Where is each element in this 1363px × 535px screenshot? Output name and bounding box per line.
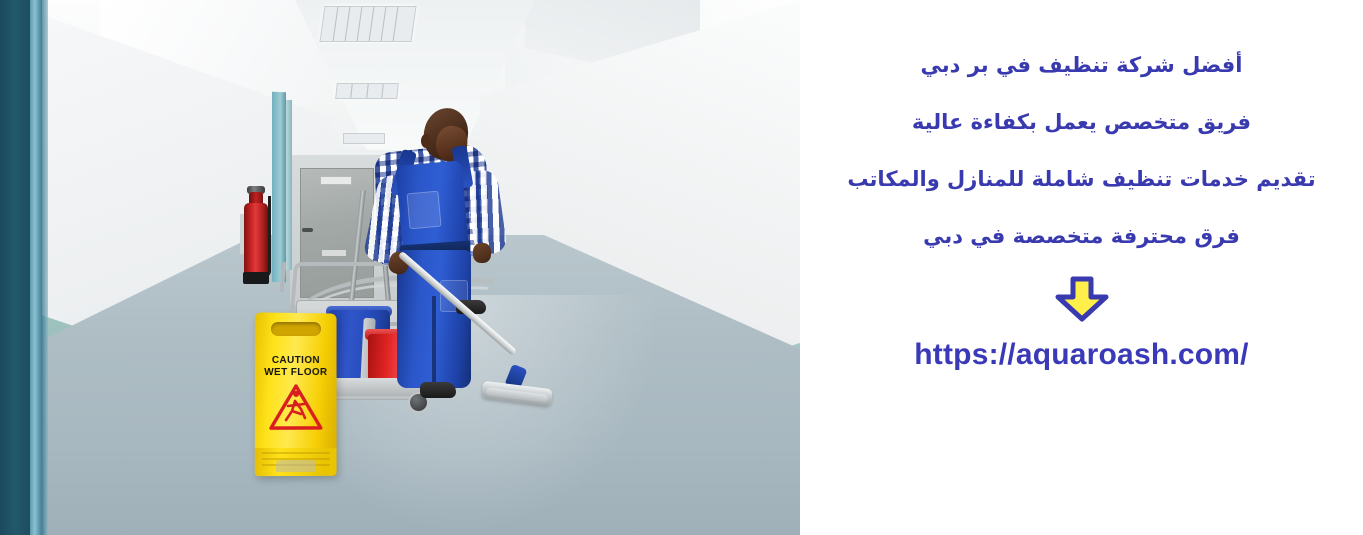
fire-extinguisher-hose — [262, 196, 271, 277]
caution-sign-notch — [276, 460, 316, 472]
door-panel-edge — [30, 0, 42, 535]
worker-ear — [421, 134, 431, 148]
headline-line-4: فرق محترفة متخصصة في دبي — [812, 223, 1352, 249]
sign-line-1: CAUTION — [255, 355, 337, 367]
slip-hazard-triangle-icon — [268, 383, 324, 431]
arrow-down-icon — [1054, 276, 1110, 322]
promo-text-panel: أفضل شركة تنظيف في بر دبي فريق متخصص يعم… — [800, 0, 1363, 535]
headline-line-3: تقديم خدمات تنظيف شاملة للمنازل والمكاتب — [812, 166, 1352, 192]
door-panel-highlight — [42, 0, 48, 535]
fire-extinguisher-base — [243, 272, 269, 284]
teal-doorway-strip — [272, 92, 286, 282]
sign-handle-cutout — [271, 322, 321, 336]
corridor-cleaning-photo: CAUTION WET FLOOR — [0, 0, 800, 535]
ceiling-light-fixture-icon — [335, 83, 399, 99]
worker-hand-right — [473, 243, 491, 263]
door-sign — [320, 176, 352, 185]
overall-pocket — [406, 191, 441, 230]
website-url-link[interactable]: https://aquaroash.com/ — [914, 338, 1248, 372]
ceiling-light-fixture-icon — [319, 6, 416, 42]
teal-doorway-highlight — [286, 100, 292, 270]
trouser-seam — [432, 296, 436, 388]
ceiling-light-fixture-icon — [343, 133, 385, 144]
headline-line-2: فريق متخصص يعمل بكفاءة عالية — [812, 109, 1352, 135]
arrow-container — [800, 276, 1363, 322]
cleaning-service-banner: CAUTION WET FLOOR — [0, 0, 1363, 535]
door-plate — [322, 250, 346, 256]
door-handle — [302, 228, 313, 232]
dark-teal-door-panel — [0, 0, 30, 535]
sign-line-2: WET FLOOR — [255, 367, 337, 379]
sign-caution-text: CAUTION WET FLOOR — [255, 355, 337, 379]
worker-shoe-left — [420, 382, 456, 398]
headline-line-1: أفضل شركة تنظيف في بر دبي — [812, 52, 1352, 78]
